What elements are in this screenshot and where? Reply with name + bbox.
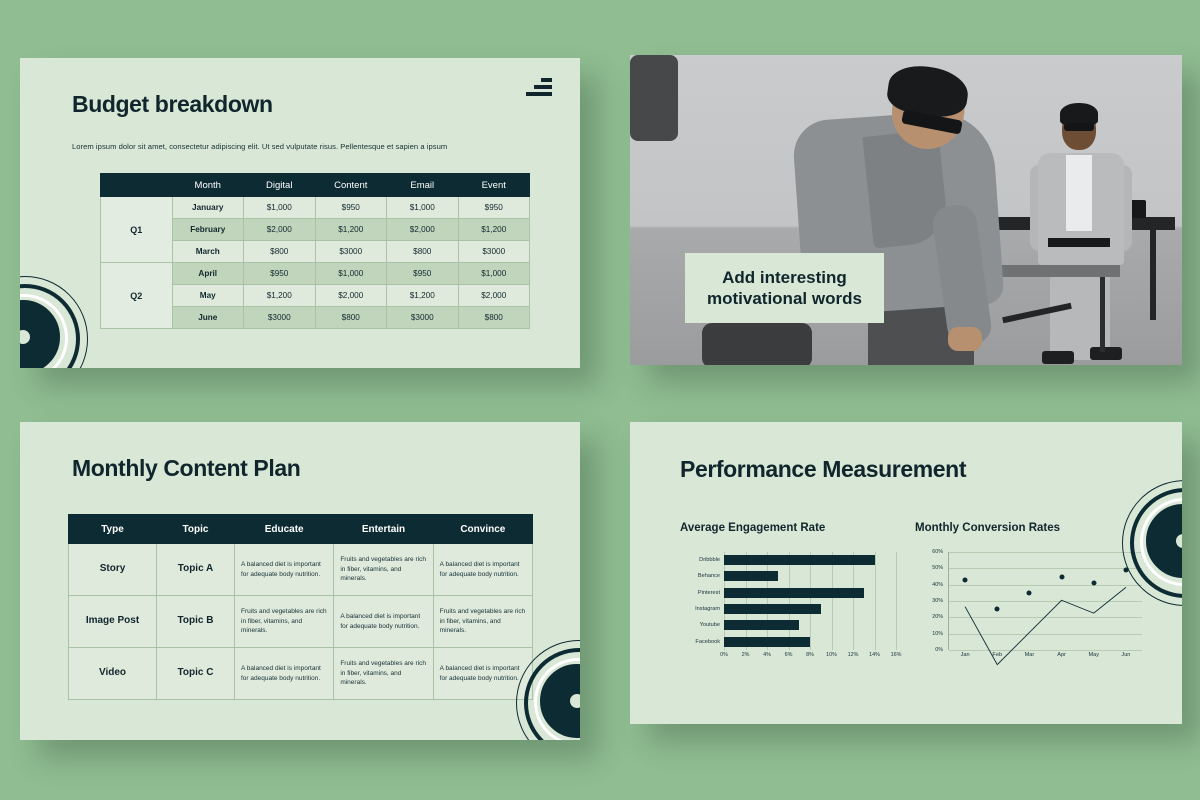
cell-type: Image Post: [69, 596, 157, 648]
bar-row: Instagram: [724, 601, 896, 617]
table-header-row: Month Digital Content Email Event: [101, 174, 530, 197]
shoe: [1042, 351, 1074, 364]
line-x-axis: JanFebMarAprMayJun: [949, 652, 1142, 664]
line-path: [949, 552, 1142, 724]
standing-man-belt: [1048, 238, 1110, 247]
cell-convince: Fruits and vegetables are rich in fiber,…: [433, 596, 532, 648]
x-tick-label: Apr: [1057, 652, 1066, 658]
cell-content: $800: [315, 307, 387, 329]
th-month: Month: [172, 174, 244, 197]
cell-email: $800: [387, 241, 459, 263]
quarter-label: Q1: [101, 197, 173, 263]
table-row: Image Post Topic B Fruits and vegetables…: [69, 596, 533, 648]
x-tick-label: 12%: [848, 652, 859, 658]
slide-monthly-content-plan[interactable]: Monthly Content Plan Type Topic Educate …: [20, 422, 580, 740]
cell-event: $1,000: [458, 263, 530, 285]
office-chair: [702, 323, 812, 365]
page-title: Performance Measurement: [680, 456, 966, 483]
cell-content: $1,200: [315, 219, 387, 241]
y-tick-label: 10%: [932, 631, 943, 637]
motivational-caption: Add interesting motivational words: [685, 253, 884, 324]
line-series: [949, 552, 1142, 650]
x-tick-label: 6%: [785, 652, 793, 658]
x-tick-label: May: [1088, 652, 1099, 658]
table-leg: [1100, 277, 1105, 352]
cell-event: $800: [458, 307, 530, 329]
standing-man-shirt: [1066, 155, 1092, 231]
caption-line-1: Add interesting: [707, 267, 862, 288]
data-point: [1123, 567, 1128, 572]
x-tick-label: Feb: [992, 652, 1002, 658]
caption-line-2: motivational words: [707, 288, 862, 309]
th-blank: [101, 174, 173, 197]
x-tick-label: 4%: [763, 652, 771, 658]
cell-month: March: [172, 241, 244, 263]
sunglasses-icon: [1064, 123, 1094, 131]
page-title: Budget breakdown: [72, 91, 273, 118]
bar-series: DribbbleBehancePinterestInstagramYoutube…: [724, 552, 896, 650]
data-point: [1091, 581, 1096, 586]
cell-month: January: [172, 197, 244, 219]
y-tick-label: 20%: [932, 614, 943, 620]
bar: [724, 620, 799, 630]
y-tick-label: 60%: [932, 549, 943, 555]
cell-convince: A balanced diet is important for adequat…: [433, 648, 532, 700]
cell-digital: $3000: [244, 307, 316, 329]
table-row: Q2 April $950 $1,000 $950 $1,000: [101, 263, 530, 285]
cell-topic: Topic B: [157, 596, 235, 648]
chart-title: Monthly Conversion Rates: [915, 522, 1150, 534]
chart-monthly-conversion-rates: Monthly Conversion Rates 0%10%20%30%40%5…: [915, 522, 1150, 682]
bar-row: Pinterest: [724, 585, 896, 601]
cell-email: $950: [387, 263, 459, 285]
slide-subtitle: Lorem ipsum dolor sit amet, consectetur …: [72, 142, 447, 151]
cell-digital: $1,200: [244, 285, 316, 307]
slide-motivational-photo[interactable]: Add interesting motivational words: [630, 55, 1182, 365]
x-tick-label: 14%: [869, 652, 880, 658]
table-header-row: Type Topic Educate Entertain Convince: [69, 515, 533, 544]
cell-type: Story: [69, 544, 157, 596]
bar: [724, 555, 875, 565]
th-digital: Digital: [244, 174, 316, 197]
cell-email: $1,000: [387, 197, 459, 219]
y-tick-label: 0%: [935, 647, 943, 653]
cell-email: $1,200: [387, 285, 459, 307]
concentric-rings-decoration: [20, 276, 92, 368]
bar-category-label: Facebook: [695, 639, 720, 645]
th-topic: Topic: [157, 515, 235, 544]
x-tick-label: 2%: [742, 652, 750, 658]
quarter-label: Q2: [101, 263, 173, 329]
cell-topic: Topic C: [157, 648, 235, 700]
table-row: Story Topic A A balanced diet is importa…: [69, 544, 533, 596]
cell-event: $1,200: [458, 219, 530, 241]
cell-educate: Fruits and vegetables are rich in fiber,…: [235, 596, 334, 648]
cell-email: $3000: [387, 307, 459, 329]
slide-performance-measurement[interactable]: Performance Measurement Average Engageme…: [630, 422, 1182, 724]
cell-topic: Topic A: [157, 544, 235, 596]
bar: [724, 637, 810, 647]
cell-content: $1,000: [315, 263, 387, 285]
bar: [724, 604, 821, 614]
bar-chart-plot: DribbbleBehancePinterestInstagramYoutube…: [680, 552, 908, 664]
bar-x-axis: 0%2%4%6%8%10%12%14%16%: [724, 652, 896, 664]
th-educate: Educate: [235, 515, 334, 544]
x-tick-label: Jun: [1121, 652, 1130, 658]
th-event: Event: [458, 174, 530, 197]
cell-month: May: [172, 285, 244, 307]
cell-digital: $1,000: [244, 197, 316, 219]
bar-category-label: Youtube: [700, 622, 720, 628]
budget-table: Month Digital Content Email Event Q1 Jan…: [100, 173, 530, 329]
cell-digital: $2,000: [244, 219, 316, 241]
cell-type: Video: [69, 648, 157, 700]
x-tick-label: 10%: [826, 652, 837, 658]
cell-event: $950: [458, 197, 530, 219]
gridline: [896, 552, 897, 650]
x-tick-label: Mar: [1025, 652, 1035, 658]
cell-event: $3000: [458, 241, 530, 263]
x-tick-label: Jan: [961, 652, 970, 658]
cell-digital: $950: [244, 263, 316, 285]
y-tick-label: 40%: [932, 582, 943, 588]
bending-man-hand: [948, 327, 982, 351]
shoe: [1090, 347, 1122, 360]
cell-entertain: A balanced diet is important for adequat…: [334, 596, 433, 648]
cell-entertain: Fruits and vegetables are rich in fiber,…: [334, 544, 433, 596]
y-tick-label: 30%: [932, 598, 943, 604]
page-title: Monthly Content Plan: [72, 455, 300, 482]
cell-educate: A balanced diet is important for adequat…: [235, 648, 334, 700]
cell-convince: A balanced diet is important for adequat…: [433, 544, 532, 596]
x-tick-label: 8%: [806, 652, 814, 658]
presentation-board: Budget breakdown Lorem ipsum dolor sit a…: [0, 0, 1200, 800]
desk-leg: [1150, 230, 1156, 320]
content-plan-table: Type Topic Educate Entertain Convince St…: [68, 514, 533, 700]
bar-row: Facebook: [724, 634, 896, 650]
stacked-bars-logo-icon: [526, 76, 552, 98]
cell-content: $3000: [315, 241, 387, 263]
standing-man-hair: [1060, 103, 1098, 125]
bar-category-label: Instagram: [695, 606, 720, 612]
th-entertain: Entertain: [334, 515, 433, 544]
table-row: Video Topic C A balanced diet is importa…: [69, 648, 533, 700]
cell-email: $2,000: [387, 219, 459, 241]
bar-category-label: Dribbble: [699, 557, 720, 563]
table-row: Q1 January $1,000 $950 $1,000 $950: [101, 197, 530, 219]
data-point: [995, 607, 1000, 612]
th-convince: Convince: [433, 515, 532, 544]
cell-month: June: [172, 307, 244, 329]
line-chart-plot: 0%10%20%30%40%50%60% JanFebMarAprMayJun: [915, 552, 1150, 664]
cell-digital: $800: [244, 241, 316, 263]
cell-month: February: [172, 219, 244, 241]
bar-category-label: Behance: [698, 573, 720, 579]
data-point: [1027, 590, 1032, 595]
x-tick-label: 16%: [891, 652, 902, 658]
cell-content: $950: [315, 197, 387, 219]
data-point: [963, 577, 968, 582]
bar: [724, 571, 778, 581]
cell-event: $2,000: [458, 285, 530, 307]
slide-budget-breakdown[interactable]: Budget breakdown Lorem ipsum dolor sit a…: [20, 58, 580, 368]
chart-average-engagement-rate: Average Engagement Rate DribbbleBehanceP…: [680, 522, 908, 682]
chart-title: Average Engagement Rate: [680, 522, 908, 534]
x-tick-label: 0%: [720, 652, 728, 658]
cell-entertain: Fruits and vegetables are rich in fiber,…: [334, 648, 433, 700]
bar-row: Dribbble: [724, 552, 896, 568]
bar-row: Youtube: [724, 617, 896, 633]
th-email: Email: [387, 174, 459, 197]
bar-row: Behance: [724, 568, 896, 584]
line-y-axis: 0%10%20%30%40%50%60%: [915, 552, 945, 650]
data-point: [1059, 574, 1064, 579]
cell-month: April: [172, 263, 244, 285]
bar: [724, 588, 864, 598]
th-type: Type: [69, 515, 157, 544]
cell-educate: A balanced diet is important for adequat…: [235, 544, 334, 596]
cell-content: $2,000: [315, 285, 387, 307]
y-tick-label: 50%: [932, 565, 943, 571]
office-chair-back: [630, 55, 678, 141]
bar-category-label: Pinterest: [698, 590, 720, 596]
th-content: Content: [315, 174, 387, 197]
